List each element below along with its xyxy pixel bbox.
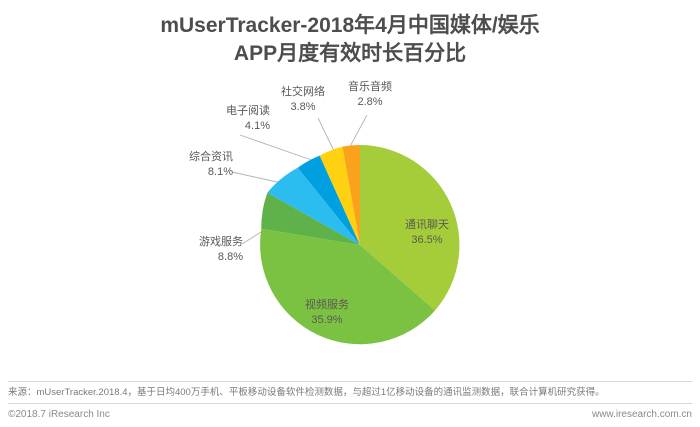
- pie-callout-社交网络: 社交网络 3.8%: [268, 85, 338, 114]
- footer-divider-top: [8, 381, 692, 382]
- pie-chart-area: 通讯聊天 36.5% 视频服务 35.9% 游戏服务 8.8% 综合资讯 8.1…: [0, 0, 700, 380]
- footer-divider-bottom: [8, 403, 692, 404]
- leader-line-电子阅读: [240, 135, 320, 163]
- pie-label-value-社交网络: 3.8%: [268, 100, 338, 115]
- pie-label-value-电子阅读: 4.1%: [175, 119, 270, 134]
- chart-page: mUserTracker-2018年4月中国媒体/娱乐 APP月度有效时长百分比: [0, 0, 700, 427]
- pie-label-视频服务: 视频服务 35.9%: [282, 298, 372, 328]
- pie-label-name-游戏服务: 游戏服务: [148, 235, 243, 250]
- footer-website-url[interactable]: www.iresearch.com.cn: [592, 408, 692, 422]
- pie-label-value-通讯聊天: 36.5%: [382, 233, 472, 248]
- pie-label-name-电子阅读: 电子阅读: [175, 104, 270, 119]
- pie-callout-音乐音频: 音乐音频 2.8%: [335, 80, 405, 109]
- pie-label-name-综合资讯: 综合资讯: [138, 150, 233, 165]
- pie-label-value-游戏服务: 8.8%: [148, 250, 243, 265]
- pie-label-name-社交网络: 社交网络: [268, 85, 338, 100]
- footer-copyright: ©2018.7 iResearch Inc: [8, 408, 110, 422]
- pie-label-value-视频服务: 35.9%: [282, 313, 372, 328]
- pie-label-name-音乐音频: 音乐音频: [335, 80, 405, 95]
- pie-callout-电子阅读: 电子阅读 4.1%: [175, 104, 270, 133]
- pie-label-name-通讯聊天: 通讯聊天: [382, 218, 472, 233]
- pie-label-value-音乐音频: 2.8%: [335, 95, 405, 110]
- footer-source-note: 来源：mUserTracker.2018.4，基于日均400万手机、平板移动设备…: [8, 386, 692, 400]
- pie-label-value-综合资讯: 8.1%: [138, 165, 233, 180]
- pie-callout-游戏服务: 游戏服务 8.8%: [148, 235, 243, 264]
- pie-callout-综合资讯: 综合资讯 8.1%: [138, 150, 233, 179]
- pie-label-name-视频服务: 视频服务: [282, 298, 372, 313]
- pie-label-通讯聊天: 通讯聊天 36.5%: [382, 218, 472, 248]
